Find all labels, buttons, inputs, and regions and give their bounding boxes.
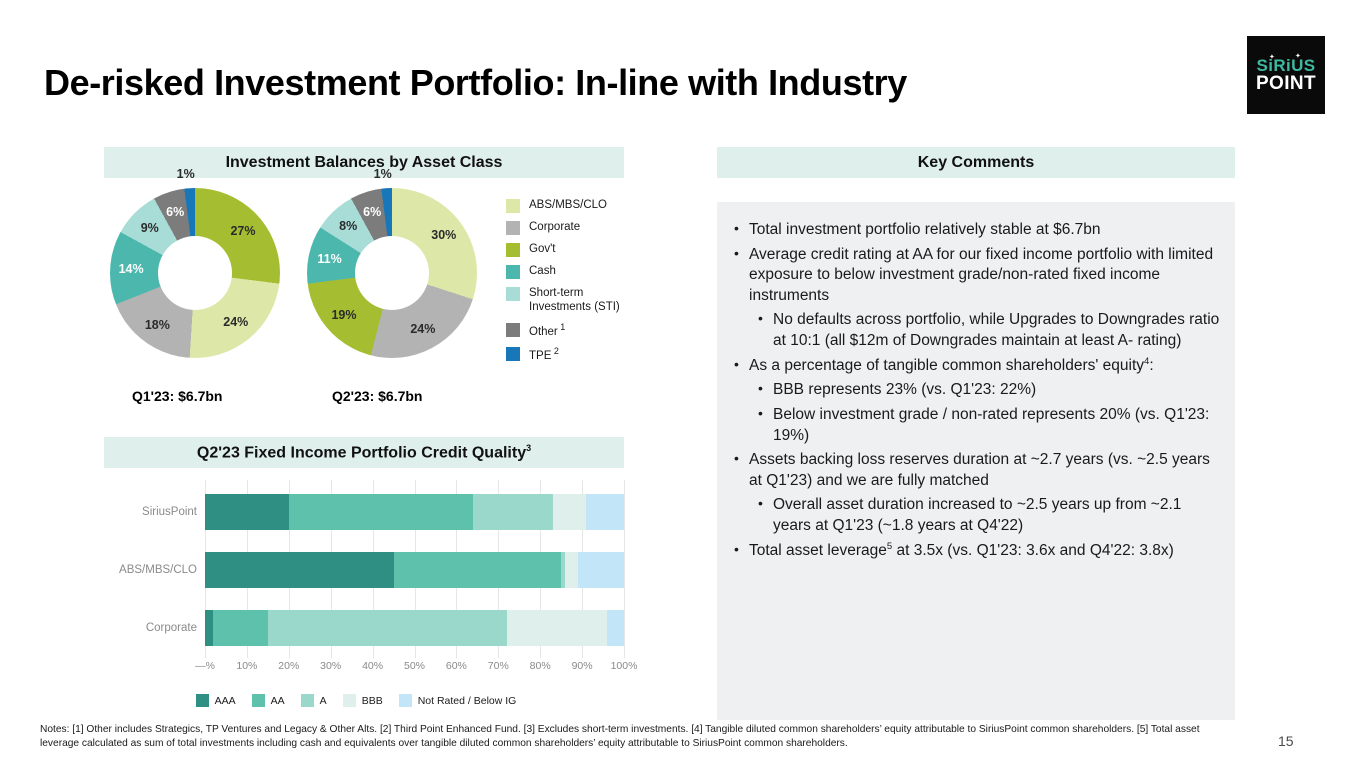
x-axis-tick-label: 60% bbox=[446, 660, 467, 672]
donut-legend: ABS/MBS/CLOCorporateGov'tCashShort-term … bbox=[506, 198, 636, 370]
bar-segment bbox=[289, 494, 473, 530]
bar-legend-label: AAA bbox=[215, 695, 236, 707]
donut-slice-label: 6% bbox=[363, 205, 381, 219]
bar-segment bbox=[565, 552, 578, 588]
donut-legend-label: Cash bbox=[529, 264, 556, 278]
key-comment-text-after: at 3.5x (vs. Q1'23: 3.6x and Q4'22: 3.8x… bbox=[892, 542, 1174, 559]
bar-segment bbox=[268, 610, 507, 646]
donut-slice-label: 30% bbox=[431, 228, 456, 242]
legend-swatch-icon bbox=[301, 694, 314, 707]
donut-slice-label: 8% bbox=[339, 219, 357, 233]
donut-legend-label: Corporate bbox=[529, 220, 580, 234]
legend-swatch-icon bbox=[506, 347, 520, 361]
x-axis-tick-label: 70% bbox=[488, 660, 509, 672]
donut-legend-item: TPE 2 bbox=[506, 346, 636, 363]
bar-legend-item: A bbox=[301, 694, 327, 707]
legend-swatch-icon bbox=[506, 265, 520, 279]
key-comment-text: BBB represents 23% (vs. Q1'23: 22%) bbox=[773, 381, 1036, 398]
donut-legend-item: Other 1 bbox=[506, 322, 636, 339]
donut-legend-item: Corporate bbox=[506, 220, 636, 235]
legend-swatch-icon bbox=[506, 221, 520, 235]
bar-segment bbox=[205, 610, 213, 646]
bar-segment bbox=[205, 552, 394, 588]
legend-swatch-icon bbox=[506, 323, 520, 337]
legend-swatch-icon bbox=[252, 694, 265, 707]
donut-slice-label: 11% bbox=[317, 252, 341, 266]
bar-legend-item: BBB bbox=[343, 694, 383, 707]
x-axis-tick-label: 20% bbox=[278, 660, 299, 672]
bar-segment bbox=[553, 494, 587, 530]
bar-segment bbox=[473, 494, 553, 530]
siriuspoint-logo: ✦ ✦ SiRiUS POINT bbox=[1247, 36, 1325, 114]
donut-legend-item: Short-term Investments (STI) bbox=[506, 286, 636, 315]
key-comment-text: No defaults across portfolio, while Upgr… bbox=[773, 311, 1219, 349]
legend-swatch-icon bbox=[196, 694, 209, 707]
donut-slice-label: 18% bbox=[145, 318, 170, 332]
bar-legend-item: AAA bbox=[196, 694, 236, 707]
key-comment-text: Overall asset duration increased to ~2.5… bbox=[773, 496, 1181, 534]
legend-swatch-icon bbox=[343, 694, 356, 707]
legend-swatch-icon bbox=[399, 694, 412, 707]
bar-row: Corporate bbox=[205, 610, 624, 646]
x-axis-tick-label: 10% bbox=[236, 660, 257, 672]
donut-legend-label: Gov't bbox=[529, 242, 555, 256]
key-comment-text: As a percentage of tangible common share… bbox=[749, 357, 1144, 374]
bar-category-label: Corporate bbox=[146, 622, 197, 634]
credit-quality-bar-chart: —%10%20%30%40%50%60%70%80%90%100%SiriusP… bbox=[104, 480, 624, 680]
key-comment-item: Total investment portfolio relatively st… bbox=[729, 220, 1221, 241]
bar-row: ABS/MBS/CLO bbox=[205, 552, 624, 588]
x-axis-tick-label: 50% bbox=[404, 660, 425, 672]
bar-chart-legend: AAAAAABBBNot Rated / Below IG bbox=[104, 694, 624, 707]
logo-text-point: POINT bbox=[1256, 74, 1316, 93]
legend-swatch-icon bbox=[506, 243, 520, 257]
bar-panel-title: Q2'23 Fixed Income Portfolio Credit Qual… bbox=[197, 443, 531, 462]
donut-slice-label: 24% bbox=[410, 322, 435, 336]
x-axis-tick-label: 40% bbox=[362, 660, 383, 672]
bar-category-label: ABS/MBS/CLO bbox=[119, 564, 197, 576]
bar-legend-label: BBB bbox=[362, 695, 383, 707]
bar-segment bbox=[607, 610, 624, 646]
comments-panel-title: Key Comments bbox=[918, 154, 1034, 172]
bar-segment bbox=[205, 494, 289, 530]
x-axis-tick-label: 90% bbox=[572, 660, 593, 672]
donut-caption-q2: Q2'23: $6.7bn bbox=[332, 388, 422, 404]
donut-legend-label: Short-term Investments (STI) bbox=[529, 286, 636, 315]
page-number: 15 bbox=[1278, 733, 1294, 749]
donut-slice-label: 24% bbox=[223, 315, 248, 329]
bar-legend-label: AA bbox=[271, 695, 285, 707]
donut-slice-label: 1% bbox=[177, 167, 195, 181]
donut-slice-label: 27% bbox=[230, 224, 255, 238]
legend-swatch-icon bbox=[506, 199, 520, 213]
bar-segment bbox=[213, 610, 267, 646]
page-title: De-risked Investment Portfolio: In-line … bbox=[44, 62, 907, 104]
bar-panel-title-sup: 3 bbox=[526, 443, 531, 453]
bar-panel-header: Q2'23 Fixed Income Portfolio Credit Qual… bbox=[104, 437, 624, 468]
key-comment-item: Assets backing loss reserves duration at… bbox=[729, 450, 1221, 491]
donut-legend-label: Other 1 bbox=[529, 322, 565, 339]
key-comment-item: As a percentage of tangible common share… bbox=[729, 356, 1221, 377]
key-comment-item: Average credit rating at AA for our fixe… bbox=[729, 245, 1221, 307]
x-axis-tick-label: 100% bbox=[611, 660, 638, 672]
bar-segment bbox=[578, 552, 624, 588]
bar-segment bbox=[586, 494, 624, 530]
key-comments-list: Total investment portfolio relatively st… bbox=[729, 220, 1221, 561]
donut-legend-item: Cash bbox=[506, 264, 636, 279]
x-axis-tick-label: 30% bbox=[320, 660, 341, 672]
key-comment-item: Total asset leverage5 at 3.5x (vs. Q1'23… bbox=[729, 541, 1221, 562]
bar-segment bbox=[394, 552, 562, 588]
donut-slice-label: 9% bbox=[141, 221, 159, 235]
logo-text-sirius: SiRiUS bbox=[1256, 57, 1315, 74]
donut-legend-label: ABS/MBS/CLO bbox=[529, 198, 607, 212]
x-axis-tick-label: 80% bbox=[530, 660, 551, 672]
key-comment-subitem: Below investment grade / non-rated repre… bbox=[729, 405, 1221, 446]
donut-caption-q1: Q1'23: $6.7bn bbox=[132, 388, 222, 404]
donut-slice-label: 14% bbox=[119, 262, 144, 276]
x-axis-tick-label: —% bbox=[195, 660, 215, 672]
donut-slice-label: 6% bbox=[166, 205, 184, 219]
key-comment-text-after: : bbox=[1149, 357, 1153, 374]
grid-line bbox=[624, 480, 625, 658]
comments-panel-header: Key Comments bbox=[717, 147, 1235, 178]
legend-footnote-marker: 2 bbox=[551, 346, 559, 356]
donut-legend-item: ABS/MBS/CLO bbox=[506, 198, 636, 213]
key-comment-subitem: BBB represents 23% (vs. Q1'23: 22%) bbox=[729, 380, 1221, 401]
bar-legend-label: A bbox=[320, 695, 327, 707]
donut-slice-label: 19% bbox=[331, 308, 356, 322]
donut-slice-label: 1% bbox=[374, 167, 392, 181]
bar-legend-item: AA bbox=[252, 694, 285, 707]
donut-legend-label: TPE 2 bbox=[529, 346, 559, 363]
bar-row: SiriusPoint bbox=[205, 494, 624, 530]
key-comment-text: Total investment portfolio relatively st… bbox=[749, 221, 1101, 238]
key-comment-text: Below investment grade / non-rated repre… bbox=[773, 406, 1209, 444]
key-comment-text: Average credit rating at AA for our fixe… bbox=[749, 246, 1213, 304]
key-comment-text: Assets backing loss reserves duration at… bbox=[749, 451, 1210, 489]
bar-legend-item: Not Rated / Below IG bbox=[399, 694, 517, 707]
sparkle-icon: ✦ bbox=[1295, 53, 1301, 60]
bar-segment bbox=[507, 610, 608, 646]
key-comment-subitem: Overall asset duration increased to ~2.5… bbox=[729, 495, 1221, 536]
bar-category-label: SiriusPoint bbox=[142, 506, 197, 518]
legend-swatch-icon bbox=[506, 287, 520, 301]
donut-legend-item: Gov't bbox=[506, 242, 636, 257]
key-comments-panel: Total investment portfolio relatively st… bbox=[717, 202, 1235, 720]
bar-panel-title-text: Q2'23 Fixed Income Portfolio Credit Qual… bbox=[197, 444, 526, 461]
legend-footnote-marker: 1 bbox=[558, 322, 566, 332]
footnotes: Notes: [1] Other includes Strategics, TP… bbox=[40, 723, 1230, 752]
donut-panel-title: Investment Balances by Asset Class bbox=[226, 154, 503, 172]
key-comment-text: Total asset leverage bbox=[749, 542, 887, 559]
donut-chart-q2 bbox=[307, 188, 477, 358]
sparkle-icon: ✦ bbox=[1269, 54, 1275, 61]
bar-legend-label: Not Rated / Below IG bbox=[418, 695, 517, 707]
key-comment-subitem: No defaults across portfolio, while Upgr… bbox=[729, 310, 1221, 351]
